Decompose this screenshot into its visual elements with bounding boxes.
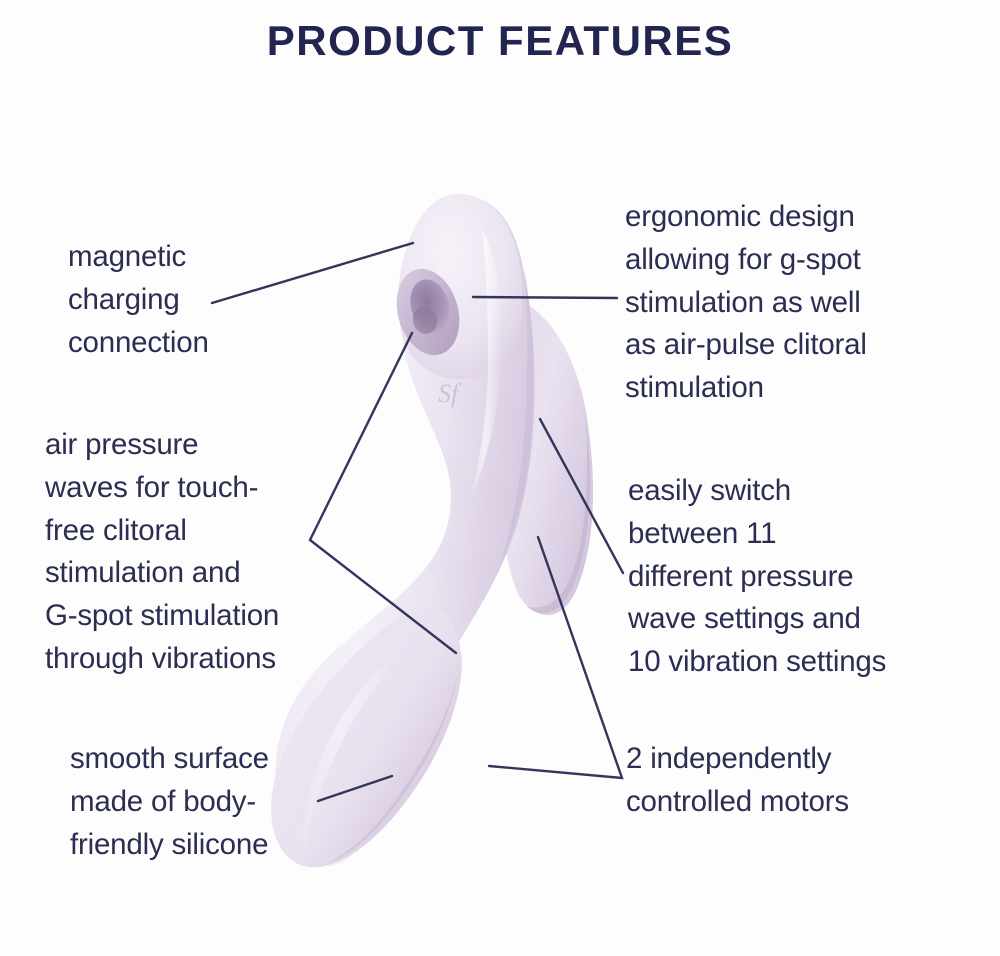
leader-line-ergonomic bbox=[473, 297, 617, 298]
feature-label-independent-motors: 2 independently controlled motors bbox=[626, 738, 849, 824]
product-body-group: Sf bbox=[271, 194, 593, 868]
feature-label-ergonomic-design: ergonomic design allowing for g-spot sti… bbox=[625, 196, 867, 410]
feature-label-smooth-surface: smooth surface made of body- friendly si… bbox=[70, 738, 269, 866]
feature-label-air-pressure-waves: air pressure waves for touch- free clito… bbox=[45, 424, 279, 681]
infographic-canvas: PRODUCT FEATURES bbox=[0, 0, 1000, 956]
feature-label-pressure-and-vibration-settings: easily switch between 11 different press… bbox=[628, 470, 886, 684]
leader-line-magnetic bbox=[212, 243, 413, 303]
feature-label-magnetic-charging: magnetic charging connection bbox=[68, 236, 209, 364]
